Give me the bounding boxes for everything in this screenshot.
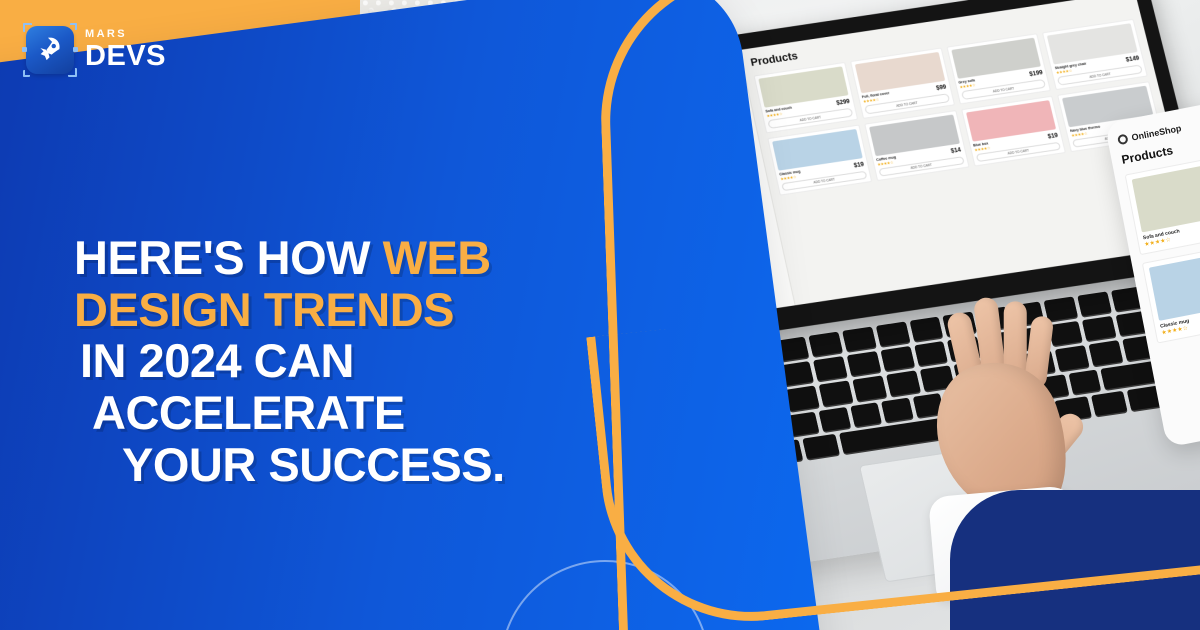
product-card[interactable]: Sofa and couch ★★★★☆ $299 ADD TO CART [754,62,858,133]
product-grid: Sofa and couch ★★★★☆ $299 ADD TO CART Fu… [754,19,1164,196]
product-card[interactable]: Grey sofa ★★★★☆ $199 ADD TO CART [946,33,1051,104]
headline-line-5: YOUR SUCCESS. [122,439,594,491]
brand-logo[interactable]: MARS DEVS [26,26,166,74]
product-card[interactable]: Full, floral cover ★★★★☆ $99 ADD TO CART [850,48,955,119]
product-card[interactable]: Blue box ★★★★☆ $19 ADD TO CART [961,95,1067,167]
tablet-product-card[interactable]: Classic mug ★★★★☆ [1142,238,1200,343]
tablet-brand-label: OnlineShop [1131,123,1182,142]
headline-line-1: HERE'S HOW WEB [74,232,594,284]
tablet-product-card[interactable]: Sofa and couch ★★★★☆ [1125,150,1200,255]
rocket-icon [26,26,74,74]
brand-logo-text: MARS DEVS [85,29,166,71]
banner-canvas: OnlineShop Clothing Apparel Furniture Ho… [0,0,1200,630]
headline-text-accent: WEB [383,231,491,284]
shop-logo-icon [1117,134,1129,146]
product-card[interactable]: Coffee mug ★★★★☆ $14 ADD TO CART [864,110,969,182]
headline-line-2: DESIGN TRENDS [74,284,594,336]
product-card[interactable]: Classic mug ★★★★☆ $19 ADD TO CART [767,124,872,196]
brand-name-top: MARS [85,29,166,40]
product-card[interactable]: Straight grey chair ★★★★☆ $149 ADD TO CA… [1042,19,1148,90]
brand-name-bottom: DEVS [85,42,166,71]
page-title: HERE'S HOW WEB DESIGN TRENDS IN 2024 CAN… [74,232,594,490]
headline-text-white: HERE'S HOW [74,231,383,284]
navy-corner-shape [950,490,1200,630]
headline-line-3: IN 2024 CAN [80,335,594,387]
headline-line-4: ACCELERATE [92,387,594,439]
